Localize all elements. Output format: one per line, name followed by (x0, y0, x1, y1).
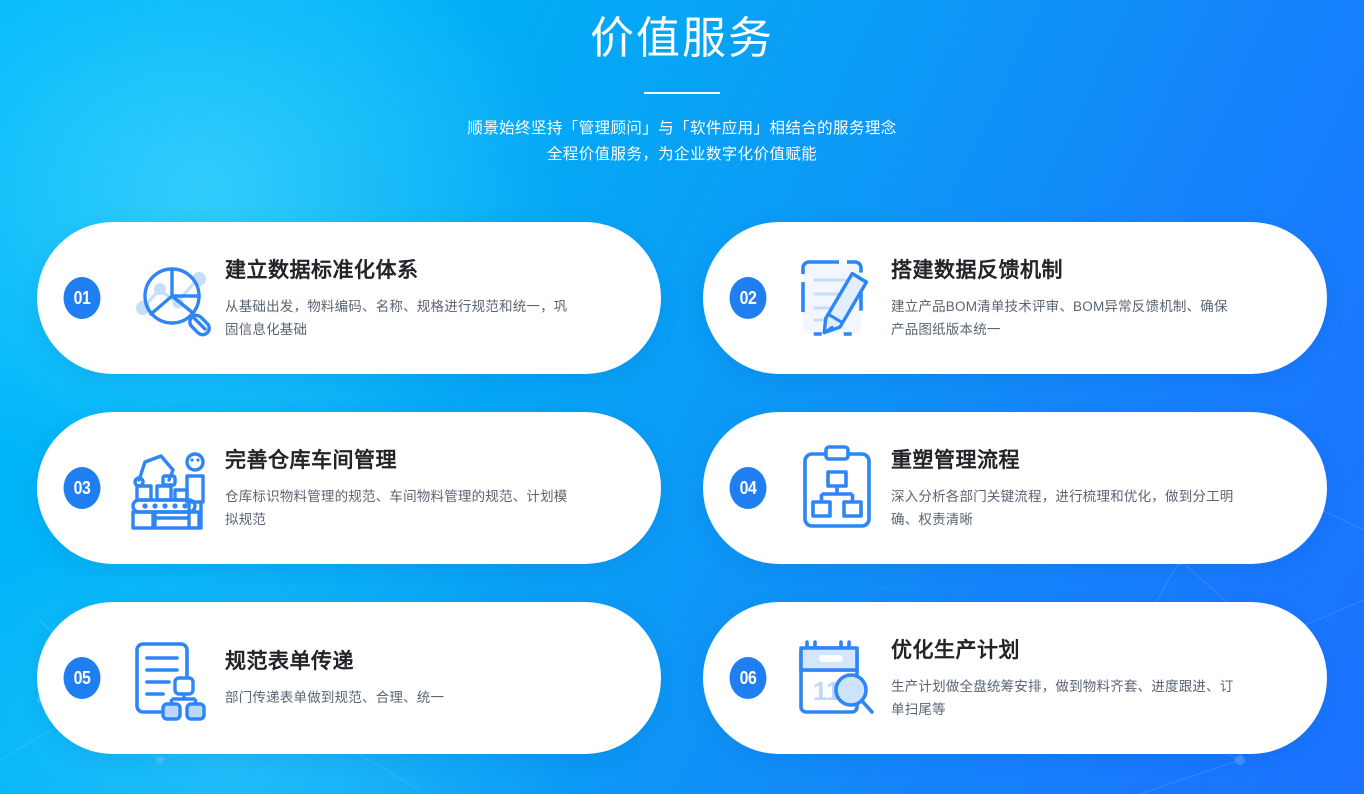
card-text-block: 优化生产计划 生产计划做全盘统筹安排，做到物料齐套、进度跟进、订单扫尾等 (891, 636, 1327, 721)
card-text-block: 搭建数据反馈机制 建立产品BOM清单技术评审、BOM异常反馈机制、确保产品图纸版… (891, 256, 1327, 341)
card-number-badge: 04 (730, 467, 767, 509)
card-title: 搭建数据反馈机制 (891, 256, 1293, 286)
card-number-badge: 03 (64, 467, 101, 509)
pencil-document-icon (783, 248, 891, 348)
title-divider (644, 92, 720, 94)
card-number-badge: 01 (64, 277, 101, 319)
calendar-magnifier-icon: 11 (783, 628, 891, 728)
card-text-block: 建立数据标准化体系 从基础出发，物料编码、名称、规格进行规范和统一，巩固信息化基… (225, 256, 661, 341)
card-number-badge: 06 (730, 657, 767, 699)
clipboard-orgchart-icon (783, 438, 891, 538)
card-title: 建立数据标准化体系 (225, 256, 627, 286)
card-description: 部门传递表单做到规范、合理、统一 (225, 686, 575, 709)
value-card-03[interactable]: 03 (37, 412, 661, 564)
page-title: 价值服务 (0, 8, 1364, 70)
card-title: 完善仓库车间管理 (225, 446, 627, 476)
card-description: 从基础出发，物料编码、名称、规格进行规范和统一，巩固信息化基础 (225, 295, 575, 341)
subtitle-line-2: 全程价值服务，为企业数字化价值赋能 (0, 142, 1364, 168)
page-header: 价值服务 顺景始终坚持「管理顾问」与「软件应用」相结合的服务理念 全程价值服务，… (0, 0, 1364, 168)
page-subtitle: 顺景始终坚持「管理顾问」与「软件应用」相结合的服务理念 全程价值服务，为企业数字… (0, 116, 1364, 168)
value-card-04[interactable]: 04 重塑管理流程 深入分析各部门关键流程，进行梳理和优化，做到分工明确、权责清… (703, 412, 1327, 564)
value-card-01[interactable]: 01 建立数据标准化体系 (37, 222, 661, 374)
card-description: 建立产品BOM清单技术评审、BOM异常反馈机制、确保产品图纸版本统一 (891, 295, 1241, 341)
card-text-block: 完善仓库车间管理 仓库标识物料管理的规范、车间物料管理的规范、计划模拟规范 (225, 446, 661, 531)
value-card-02[interactable]: 02 搭建数据反馈机制 建立产品BOM清单技术评审、BOM异常反馈机制、确保产品… (703, 222, 1327, 374)
card-text-block: 重塑管理流程 深入分析各部门关键流程，进行梳理和优化，做到分工明确、权责清晰 (891, 446, 1327, 531)
factory-worker-icon (117, 438, 225, 538)
card-title: 规范表单传递 (225, 647, 627, 677)
pie-chart-magnifier-icon (117, 248, 225, 348)
value-service-card-grid: 01 建立数据标准化体系 (37, 222, 1327, 754)
card-description: 深入分析各部门关键流程，进行梳理和优化，做到分工明确、权责清晰 (891, 485, 1241, 531)
subtitle-line-1: 顺景始终坚持「管理顾问」与「软件应用」相结合的服务理念 (0, 116, 1364, 142)
document-flowchart-icon (117, 628, 225, 728)
value-card-05[interactable]: 05 规范表单传递 部门传递表单做到规范、合理、统一 (37, 602, 661, 754)
card-title: 优化生产计划 (891, 636, 1293, 666)
value-card-06[interactable]: 06 11 优化生产计划 生产计划做全盘统筹安排，做到物料齐套、进度跟进、订 (703, 602, 1327, 754)
card-title: 重塑管理流程 (891, 446, 1293, 476)
card-description: 生产计划做全盘统筹安排，做到物料齐套、进度跟进、订单扫尾等 (891, 675, 1241, 721)
card-number-badge: 05 (64, 657, 101, 699)
card-text-block: 规范表单传递 部门传递表单做到规范、合理、统一 (225, 647, 661, 709)
card-number-badge: 02 (730, 277, 767, 319)
card-description: 仓库标识物料管理的规范、车间物料管理的规范、计划模拟规范 (225, 485, 575, 531)
